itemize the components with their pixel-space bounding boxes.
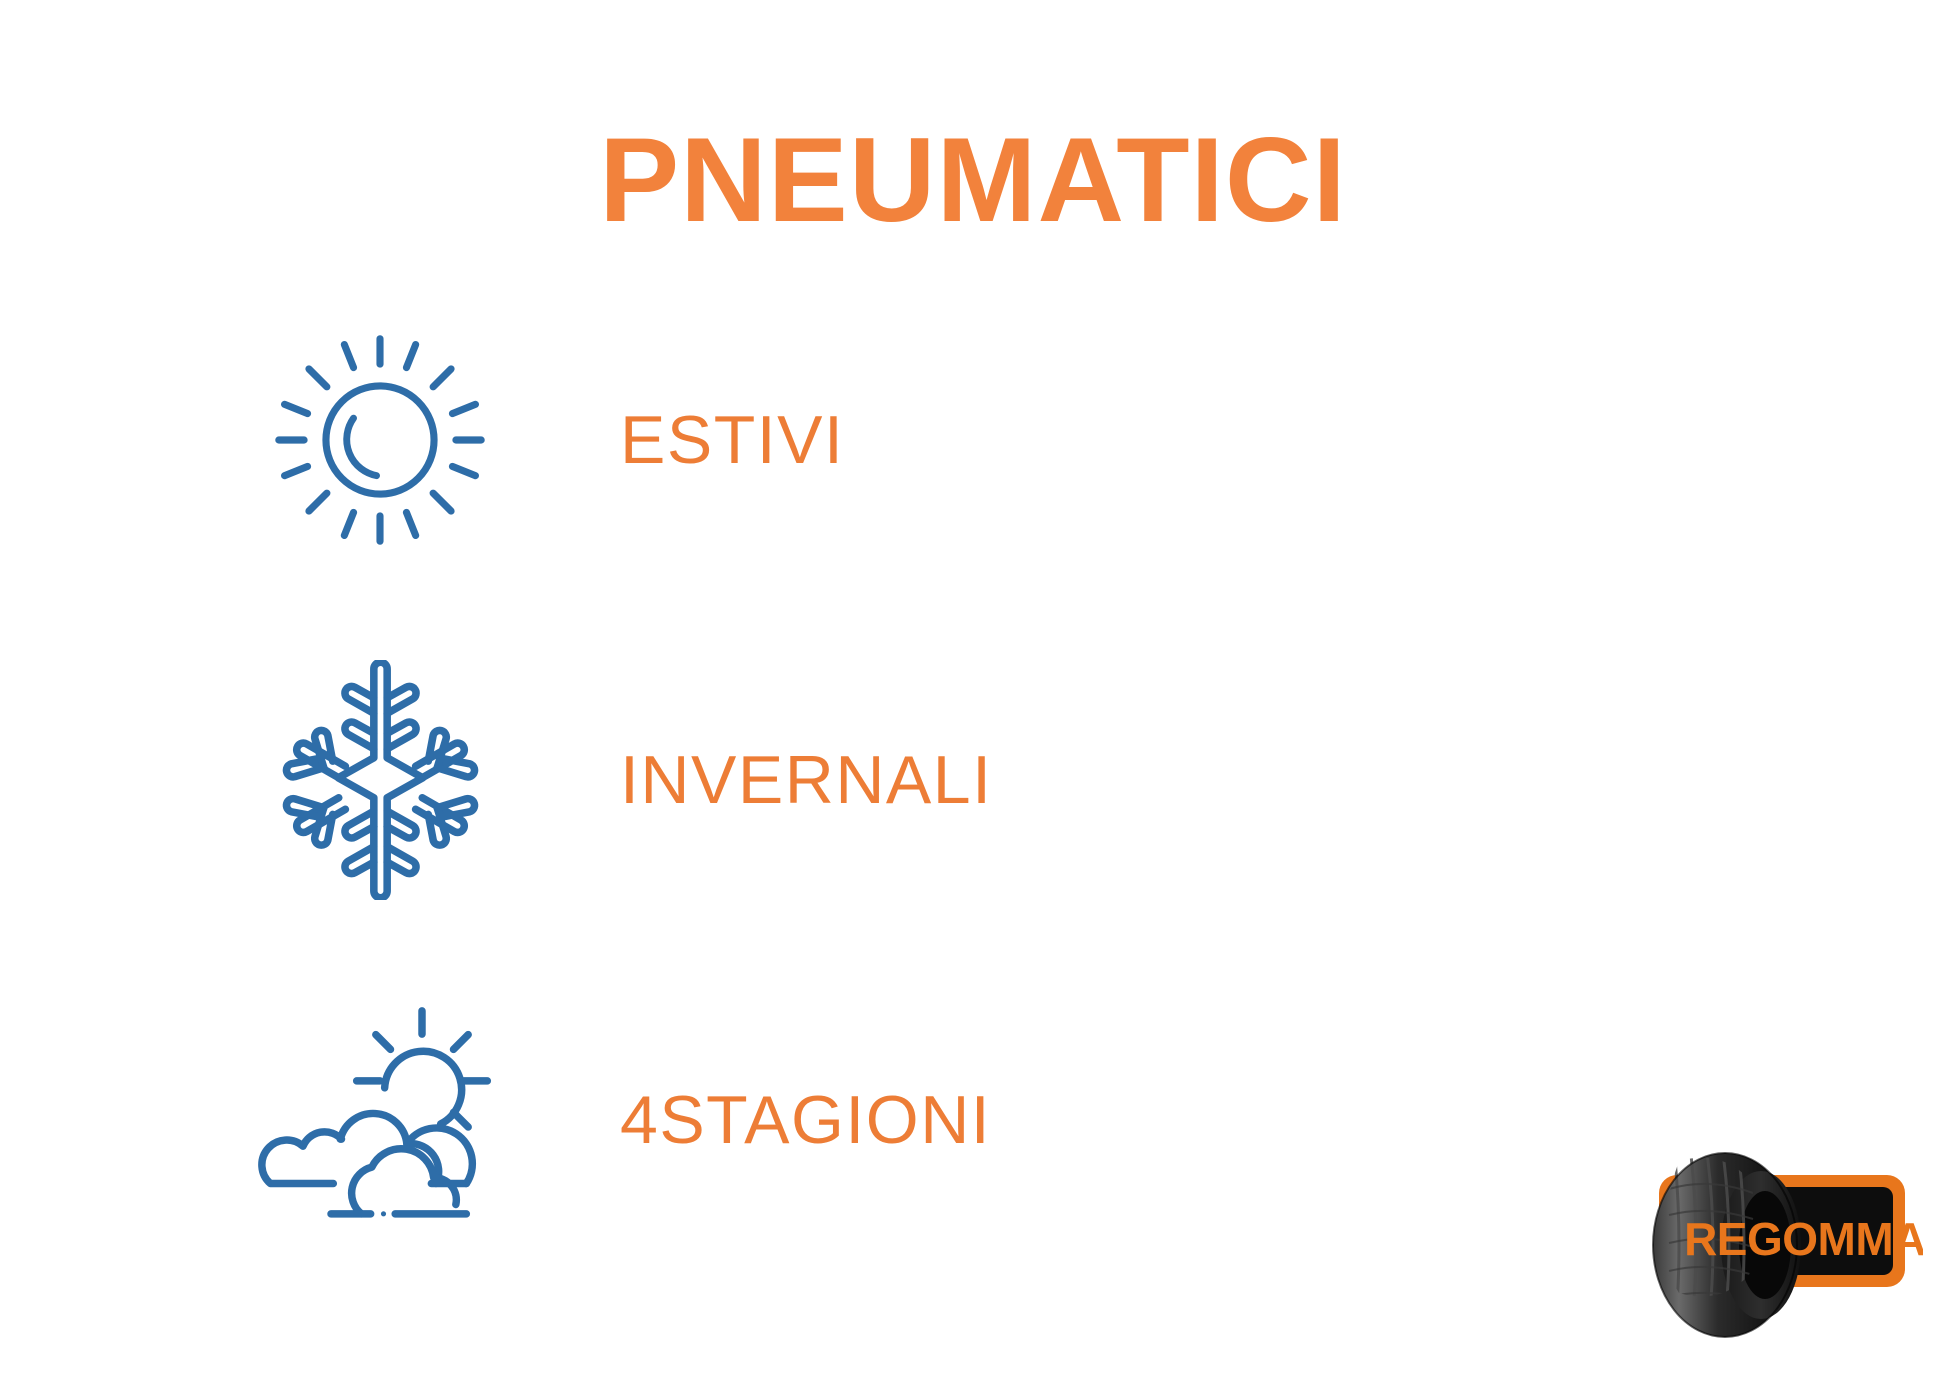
list-item: INVERNALI bbox=[230, 660, 1330, 900]
page-title: PNEUMATICI bbox=[0, 120, 1946, 240]
slide-canvas: PNEUMATICI bbox=[0, 0, 1946, 1376]
list-item: ESTIVI bbox=[230, 320, 1330, 560]
sun-icon bbox=[230, 320, 530, 560]
regomma-logo[interactable]: REGOMMA bbox=[1613, 1133, 1923, 1358]
list-item: 4STAGIONI bbox=[230, 1000, 1330, 1240]
list-item-label-cell: ESTIVI bbox=[530, 406, 1330, 474]
list-item-label-cell: INVERNALI bbox=[530, 746, 1330, 814]
list-item-label: ESTIVI bbox=[620, 406, 844, 474]
logo-wordmark: REGOMMA bbox=[1684, 1213, 1923, 1265]
list-item-label: INVERNALI bbox=[620, 746, 993, 814]
snowflake-icon bbox=[230, 660, 530, 900]
sun-behind-clouds-icon bbox=[230, 1000, 530, 1240]
list-item-label-cell: 4STAGIONI bbox=[530, 1086, 1330, 1154]
list-item-label: 4STAGIONI bbox=[620, 1086, 991, 1154]
